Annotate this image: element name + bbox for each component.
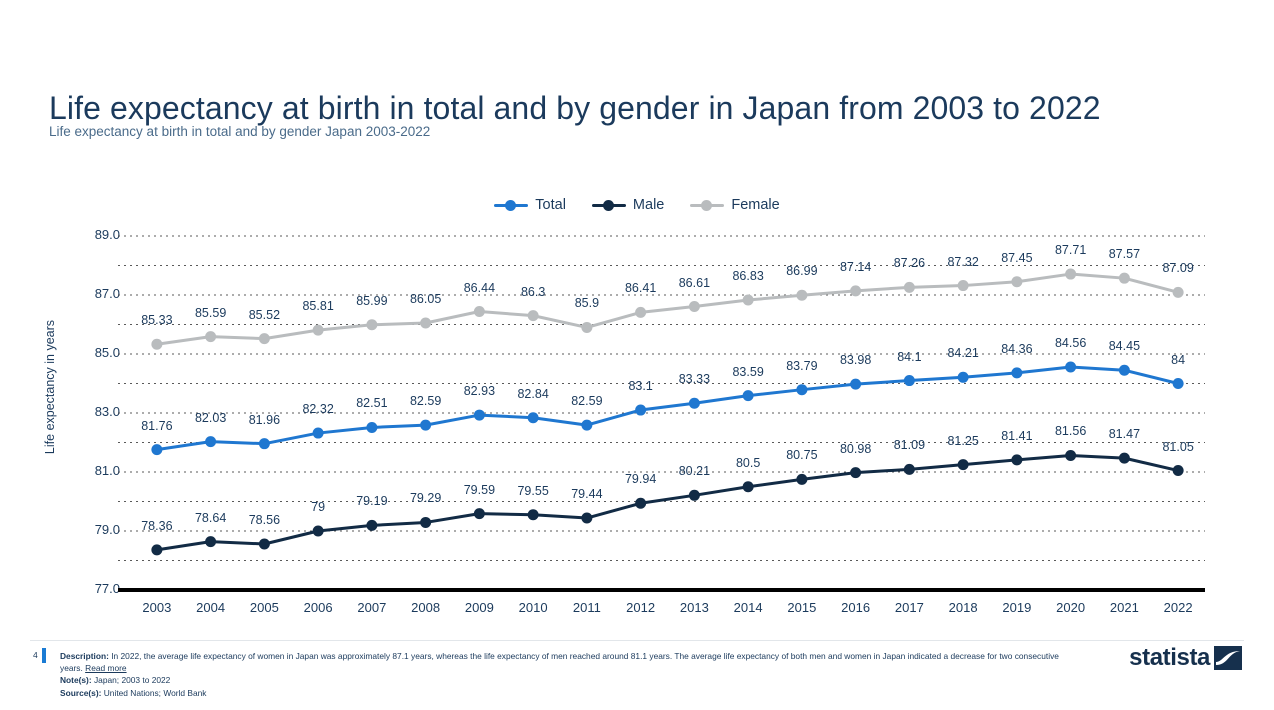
data-point-female	[1173, 287, 1184, 298]
data-point-male	[1065, 450, 1076, 461]
data-point-male	[743, 481, 754, 492]
data-point-total	[635, 405, 646, 416]
page-number: 4	[33, 650, 38, 660]
data-point-male	[1011, 454, 1022, 465]
data-point-female	[689, 301, 700, 312]
data-point-total	[259, 438, 270, 449]
data-point-female	[581, 322, 592, 333]
data-label: 79	[311, 500, 325, 514]
data-label: 81.76	[141, 419, 172, 433]
data-point-female	[313, 325, 324, 336]
data-point-total	[420, 420, 431, 431]
data-label: 87.09	[1162, 261, 1193, 275]
data-label: 79.55	[517, 484, 548, 498]
data-point-male	[689, 490, 700, 501]
sources-label: Source(s):	[60, 688, 101, 698]
description-label: Description:	[60, 651, 109, 661]
data-label: 81.09	[894, 438, 925, 452]
data-label: 84.36	[1001, 342, 1032, 356]
data-label: 80.21	[679, 464, 710, 478]
line-chart: Life expectancy in years 77.079.081.083.…	[0, 0, 1274, 710]
data-point-total	[151, 444, 162, 455]
data-point-female	[474, 306, 485, 317]
data-point-male	[850, 467, 861, 478]
data-label: 87.57	[1109, 247, 1140, 261]
data-label: 82.32	[302, 402, 333, 416]
data-label: 86.05	[410, 292, 441, 306]
data-label: 78.36	[141, 519, 172, 533]
data-label: 79.29	[410, 491, 441, 505]
data-label: 85.33	[141, 313, 172, 327]
data-point-total	[205, 436, 216, 447]
data-label: 82.84	[517, 387, 548, 401]
data-point-female	[958, 280, 969, 291]
data-point-female	[1065, 269, 1076, 280]
data-point-total	[1173, 378, 1184, 389]
data-point-male	[904, 464, 915, 475]
data-point-total	[1119, 365, 1130, 376]
series-line-male	[157, 455, 1178, 549]
data-label: 85.52	[249, 308, 280, 322]
data-point-male	[958, 459, 969, 470]
data-point-female	[1119, 273, 1130, 284]
data-point-total	[958, 372, 969, 383]
data-label: 87.45	[1001, 251, 1032, 265]
data-point-male	[366, 520, 377, 531]
read-more-link[interactable]: Read more	[85, 663, 126, 673]
data-point-female	[259, 333, 270, 344]
data-point-female	[850, 285, 861, 296]
chart-plot-area	[0, 0, 1274, 710]
data-label: 82.03	[195, 411, 226, 425]
data-point-male	[528, 509, 539, 520]
data-label: 85.59	[195, 306, 226, 320]
data-label: 81.56	[1055, 424, 1086, 438]
data-point-female	[151, 339, 162, 350]
data-label: 86.3	[521, 285, 545, 299]
data-label: 79.44	[571, 487, 602, 501]
data-point-male	[796, 474, 807, 485]
data-label: 81.05	[1162, 440, 1193, 454]
data-point-male	[635, 498, 646, 509]
data-point-male	[581, 513, 592, 524]
data-label: 82.59	[571, 394, 602, 408]
data-point-female	[205, 331, 216, 342]
data-label: 86.99	[786, 264, 817, 278]
statista-logo-mark	[1214, 646, 1242, 670]
data-point-female	[796, 290, 807, 301]
page-accent-bar	[42, 648, 46, 663]
data-point-male	[420, 517, 431, 528]
data-label: 86.44	[464, 281, 495, 295]
data-point-total	[313, 428, 324, 439]
data-point-total	[1011, 367, 1022, 378]
data-label: 87.26	[894, 256, 925, 270]
data-point-total	[850, 379, 861, 390]
data-point-male	[474, 508, 485, 519]
data-point-total	[904, 375, 915, 386]
data-label: 80.5	[736, 456, 760, 470]
data-point-male	[1173, 465, 1184, 476]
footer-sources-line: Source(s): United Nations; World Bank	[60, 687, 1070, 699]
data-label: 78.56	[249, 513, 280, 527]
data-point-total	[366, 422, 377, 433]
statista-wordmark: statista	[1129, 644, 1210, 672]
data-label: 85.81	[302, 299, 333, 313]
data-label: 80.75	[786, 448, 817, 462]
data-point-male	[151, 544, 162, 555]
data-point-male	[313, 526, 324, 537]
data-label: 78.64	[195, 511, 226, 525]
data-point-female	[1011, 276, 1022, 287]
statista-logo: statista	[1129, 644, 1242, 672]
data-label: 82.51	[356, 396, 387, 410]
data-label: 84	[1171, 353, 1185, 367]
data-point-total	[474, 410, 485, 421]
data-label: 81.25	[947, 434, 978, 448]
data-point-female	[635, 307, 646, 318]
data-point-total	[581, 420, 592, 431]
data-point-total	[1065, 361, 1076, 372]
data-label: 83.98	[840, 353, 871, 367]
data-label: 81.41	[1001, 429, 1032, 443]
data-label: 83.59	[732, 365, 763, 379]
data-point-total	[743, 390, 754, 401]
data-label: 83.1	[628, 379, 652, 393]
data-point-female	[528, 310, 539, 321]
data-label: 85.9	[575, 296, 599, 310]
data-label: 87.71	[1055, 243, 1086, 257]
data-label: 81.47	[1109, 427, 1140, 441]
data-label: 84.1	[897, 350, 921, 364]
data-point-female	[743, 295, 754, 306]
data-label: 86.41	[625, 281, 656, 295]
data-label: 86.83	[732, 269, 763, 283]
data-label: 85.99	[356, 294, 387, 308]
footer-description: Description: In 2022, the average life e…	[60, 650, 1070, 674]
data-point-total	[796, 384, 807, 395]
data-label: 83.33	[679, 372, 710, 386]
data-label: 87.32	[947, 255, 978, 269]
data-label: 86.61	[679, 276, 710, 290]
data-point-total	[528, 412, 539, 423]
data-point-total	[689, 398, 700, 409]
footer-notes: Description: In 2022, the average life e…	[60, 650, 1070, 699]
data-label: 82.59	[410, 394, 441, 408]
data-label: 79.59	[464, 483, 495, 497]
data-label: 80.98	[840, 442, 871, 456]
footer-divider	[30, 640, 1244, 641]
data-label: 79.94	[625, 472, 656, 486]
footer-notes-line: Note(s): Japan; 2003 to 2022	[60, 674, 1070, 686]
description-text: In 2022, the average life expectancy of …	[60, 651, 1059, 673]
data-label: 84.56	[1055, 336, 1086, 350]
data-label: 83.79	[786, 359, 817, 373]
data-label: 82.93	[464, 384, 495, 398]
data-point-female	[904, 282, 915, 293]
data-label: 84.45	[1109, 339, 1140, 353]
notes-text: Japan; 2003 to 2022	[92, 675, 171, 685]
data-label: 81.96	[249, 413, 280, 427]
data-point-female	[366, 319, 377, 330]
notes-label: Note(s):	[60, 675, 92, 685]
sources-text: United Nations; World Bank	[101, 688, 206, 698]
data-point-male	[259, 538, 270, 549]
data-label: 79.19	[356, 494, 387, 508]
data-point-male	[205, 536, 216, 547]
data-point-male	[1119, 453, 1130, 464]
data-label: 84.21	[947, 346, 978, 360]
slide-page: Life expectancy at birth in total and by…	[0, 0, 1274, 710]
data-point-female	[420, 318, 431, 329]
data-label: 87.14	[840, 260, 871, 274]
